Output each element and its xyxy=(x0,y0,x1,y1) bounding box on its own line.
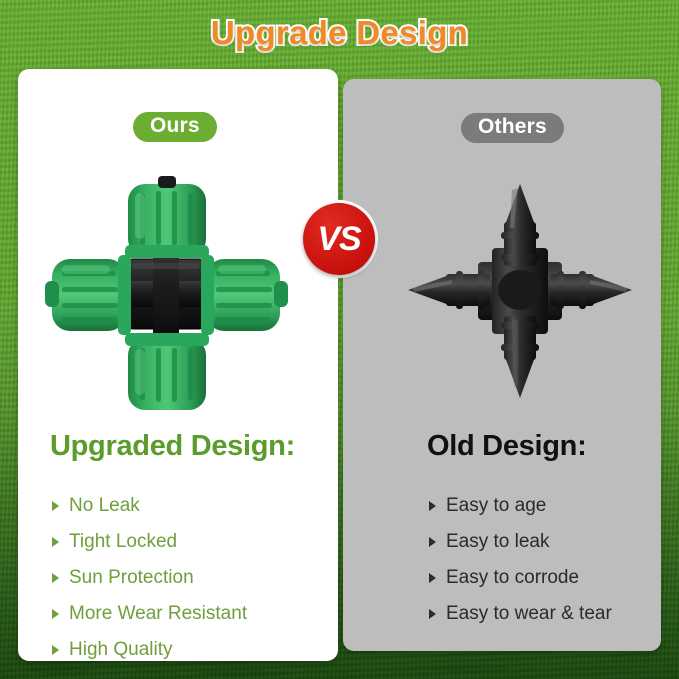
list-item: High Quality xyxy=(52,635,247,665)
list-item-label: High Quality xyxy=(69,639,173,661)
list-item-label: Easy to wear & tear xyxy=(446,603,612,625)
bullet-triangle-icon xyxy=(52,573,59,583)
list-item-label: Sun Protection xyxy=(69,567,194,589)
list-item-label: Tight Locked xyxy=(69,531,177,553)
bullet-triangle-icon xyxy=(52,501,59,511)
grass-texture xyxy=(200,670,290,677)
bullet-triangle-icon xyxy=(429,537,436,547)
list-item-label: Easy to leak xyxy=(446,531,550,553)
list-item-label: Easy to corrode xyxy=(446,567,579,589)
infographic-canvas: Upgrade Design Ours xyxy=(0,0,679,679)
bullet-triangle-icon xyxy=(429,573,436,583)
bullet-triangle-icon xyxy=(429,609,436,619)
list-item: Easy to corrode xyxy=(429,563,612,593)
list-item: No Leak xyxy=(52,491,247,521)
bullet-triangle-icon xyxy=(52,645,59,655)
grass-texture xyxy=(430,664,510,673)
list-item: Sun Protection xyxy=(52,563,247,593)
bullet-triangle-icon xyxy=(429,501,436,511)
product-image-others xyxy=(400,170,640,410)
list-item-label: Easy to age xyxy=(446,495,546,517)
badge-ours: Ours xyxy=(133,112,217,142)
list-item: Easy to leak xyxy=(429,527,612,557)
heading-ours: Upgraded Design: xyxy=(50,430,295,463)
list-item: Easy to age xyxy=(429,491,612,521)
list-item-label: More Wear Resistant xyxy=(69,603,247,625)
product-image-ours xyxy=(40,163,292,425)
list-item-label: No Leak xyxy=(69,495,140,517)
page-title: Upgrade Design xyxy=(0,14,679,52)
feature-list-ours: No Leak Tight Locked Sun Protection More… xyxy=(52,491,247,671)
bullet-triangle-icon xyxy=(52,537,59,547)
bullet-triangle-icon xyxy=(52,609,59,619)
list-item: More Wear Resistant xyxy=(52,599,247,629)
badge-others: Others xyxy=(461,113,564,143)
vs-badge: VS xyxy=(303,203,375,275)
feature-list-others: Easy to age Easy to leak Easy to corrode… xyxy=(429,491,612,635)
heading-others: Old Design: xyxy=(427,430,586,463)
list-item: Easy to wear & tear xyxy=(429,599,612,629)
list-item: Tight Locked xyxy=(52,527,247,557)
